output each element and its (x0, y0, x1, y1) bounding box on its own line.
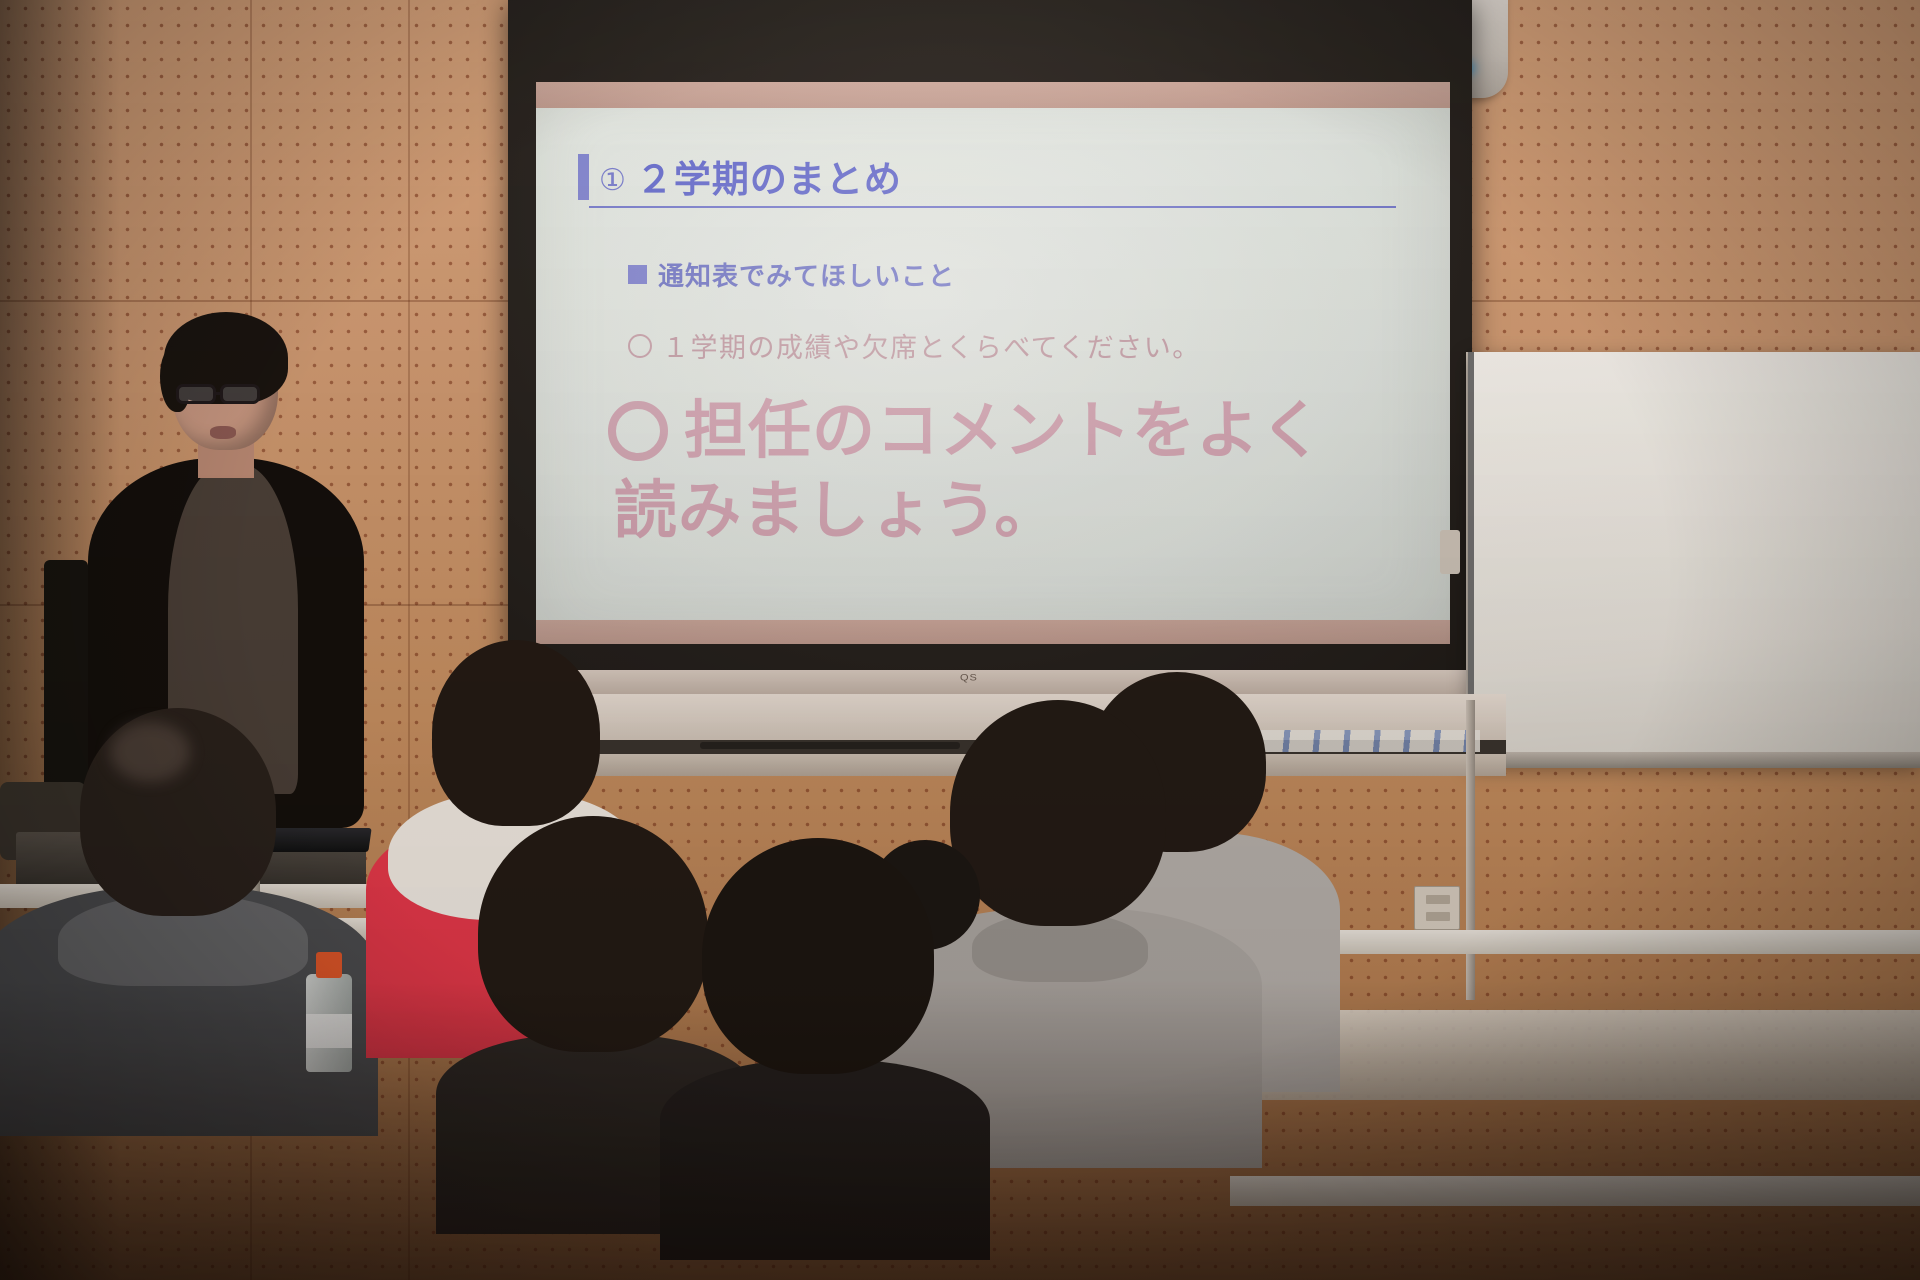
circle-bullet-large-icon (608, 401, 668, 461)
title-underline (589, 206, 1396, 208)
audience-hair-highlight (110, 722, 190, 782)
bullet-level1: 通知表でみてほしいこと (628, 256, 955, 293)
bullet-level2-label: １学期の成績や欠席とくらべてください。 (662, 326, 1201, 365)
wall-outlet (1414, 886, 1460, 930)
projection-screen: ① ２学期のまとめ 通知表でみてほしいこと １学期の成績や欠席とくらべてください… (536, 82, 1450, 644)
slide-title-block: ① ２学期のまとめ (578, 154, 1396, 208)
emphasis-line-2: 読みましょう。 (614, 474, 1410, 548)
classroom-presentation-scene: ① ２学期のまとめ 通知表でみてほしいこと １学期の成績や欠席とくらべてください… (0, 0, 1920, 1280)
support-post (1466, 700, 1475, 1000)
glasses-lens-left (176, 384, 216, 404)
room-shadow-bottom (0, 980, 1920, 1280)
emphasis-block: 担任のコメントをよく 読みましょう。 (608, 394, 1410, 549)
audience-head (432, 640, 600, 826)
square-bullet-icon (628, 265, 647, 284)
title-number: ① (599, 166, 626, 200)
glasses-lens-right (220, 384, 260, 404)
presenter-jacket-lapel (182, 466, 284, 676)
bullet-level2: １学期の成績や欠席とくらべてください。 (628, 326, 1201, 365)
emphasis-line-1: 担任のコメントをよく (684, 394, 1324, 468)
title-accent-bar (578, 154, 589, 200)
roller-brand-label: QS (960, 673, 978, 683)
page-title: ２学期のまとめ (636, 161, 902, 200)
slide-top-band (536, 82, 1450, 108)
whiteboard-tray (1468, 752, 1920, 768)
presenter-mouth (210, 426, 236, 439)
slide-bottom-band (536, 620, 1450, 644)
bottle-cap (316, 952, 342, 978)
whiteboard-clip (1440, 530, 1460, 574)
bullet-level1-label: 通知表でみてほしいこと (658, 256, 955, 293)
whiteboard (1468, 352, 1920, 764)
screen-roller-housing (548, 670, 1478, 696)
glasses-bridge (215, 392, 223, 395)
circle-bullet-icon (628, 334, 652, 358)
